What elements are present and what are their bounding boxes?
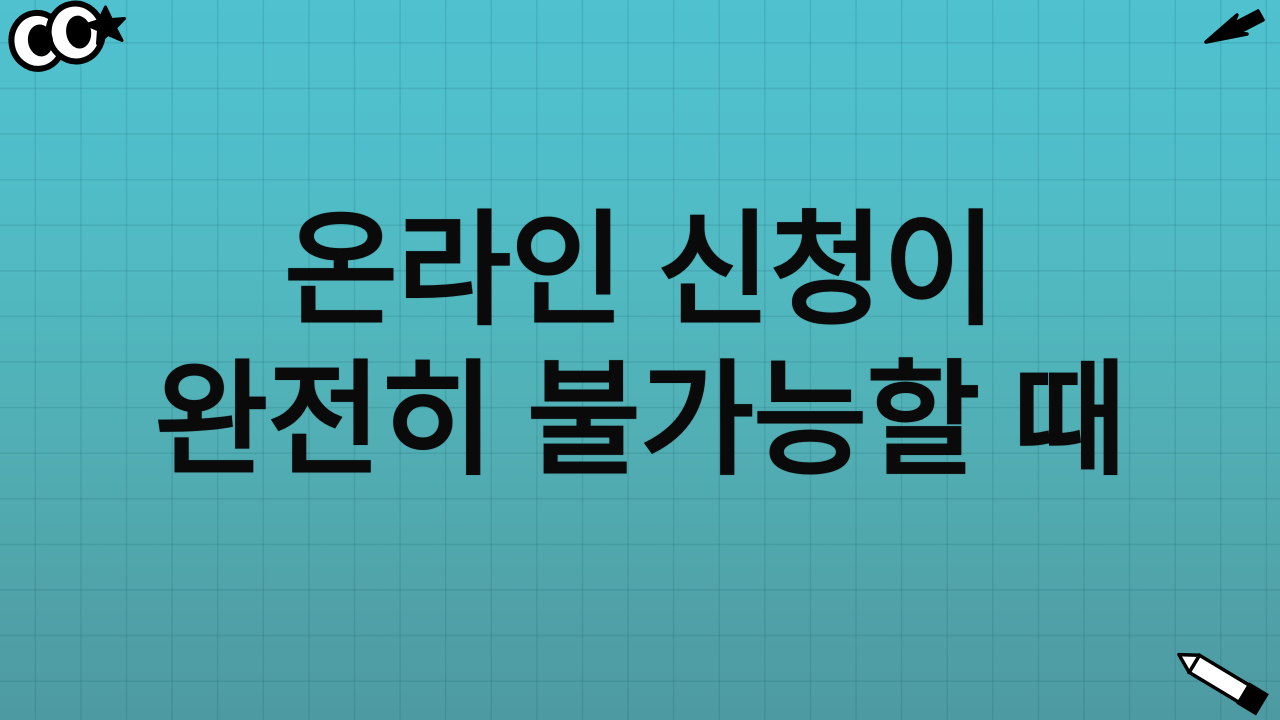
slide-canvas: 온라인 신청이 완전히 불가능할 때 [0, 0, 1280, 720]
arrow-cursor-icon [1202, 4, 1264, 50]
pencil-icon [1163, 645, 1275, 717]
page-title: 온라인 신청이 완전히 불가능할 때 [0, 196, 1280, 496]
star-icon [82, 4, 126, 48]
